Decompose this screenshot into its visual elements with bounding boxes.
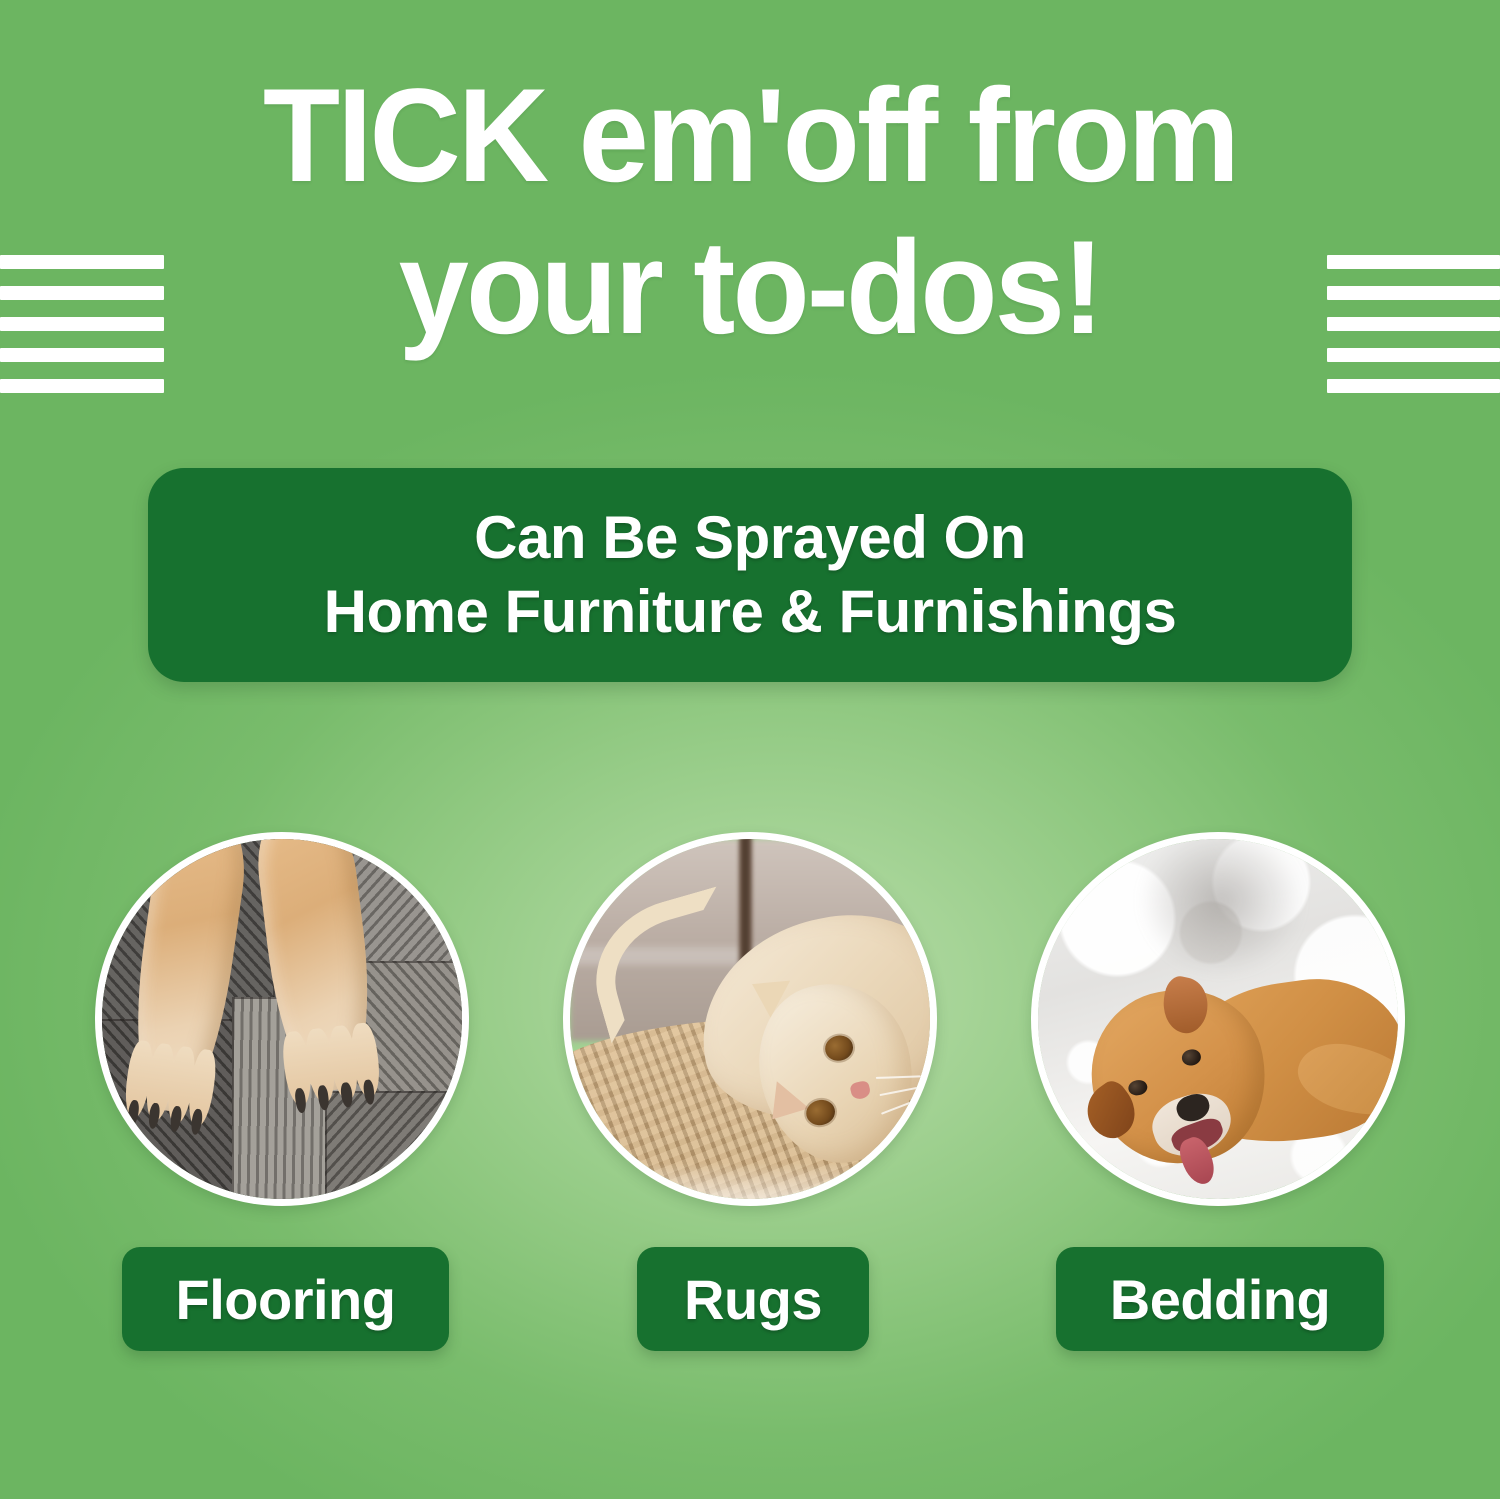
feature-label-row: Flooring Rugs Bedding	[0, 1247, 1500, 1351]
dog-eye	[1127, 1079, 1148, 1098]
bedding-shadow	[1139, 832, 1305, 976]
banner-line-2: Home Furniture & Furnishings	[324, 575, 1177, 649]
decking-scene	[102, 839, 462, 1199]
headline: TICK em'off from your to-dos!	[38, 60, 1463, 364]
feature-image-rugs	[563, 832, 937, 1206]
label-pill-bedding: Bedding	[1056, 1247, 1384, 1351]
usage-banner: Can Be Sprayed On Home Furniture & Furni…	[148, 468, 1352, 682]
product-feature-poster: TICK em'off from your to-dos! Can Be Spr…	[0, 0, 1500, 1499]
banner-line-1: Can Be Sprayed On	[474, 501, 1026, 575]
cat-eye	[803, 1097, 837, 1128]
floor-highlight	[563, 1163, 937, 1206]
cat-on-rug-scene	[570, 839, 930, 1199]
headline-line-2: your to-dos!	[38, 212, 1463, 364]
dog-on-bedding-scene	[1038, 839, 1398, 1199]
label-text: Bedding	[1110, 1267, 1330, 1332]
deck-tile	[325, 1091, 469, 1206]
feature-image-flooring	[95, 832, 469, 1206]
cat-eye	[822, 1033, 856, 1064]
label-text: Flooring	[176, 1267, 396, 1332]
dog-eye	[1181, 1048, 1202, 1067]
stripe-bar	[1327, 379, 1500, 393]
cat-nose	[849, 1080, 872, 1100]
headline-line-1: TICK em'off from	[38, 60, 1463, 212]
label-pill-rugs: Rugs	[637, 1247, 869, 1351]
label-text: Rugs	[684, 1267, 822, 1332]
label-pill-flooring: Flooring	[122, 1247, 449, 1351]
feature-image-row	[0, 832, 1500, 1206]
stripe-bar	[0, 379, 164, 393]
feature-image-bedding	[1031, 832, 1405, 1206]
